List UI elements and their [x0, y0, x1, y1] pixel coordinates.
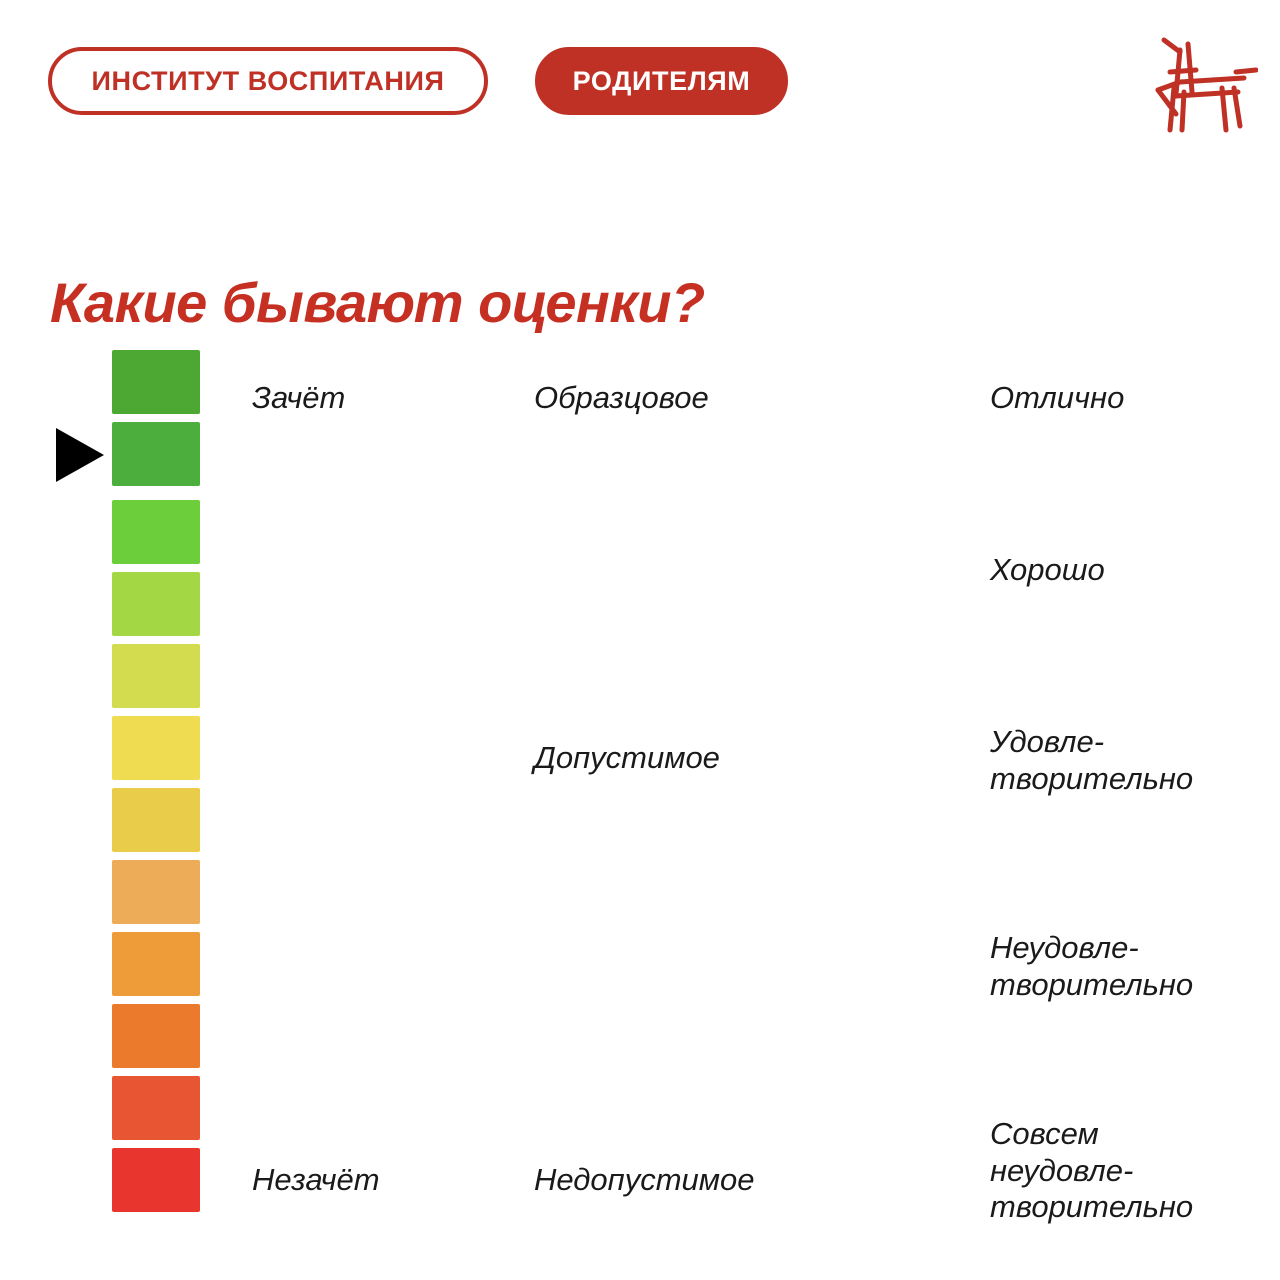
- label-grade-excellent: Отлично: [990, 380, 1124, 417]
- triangle-right-pointer-icon: [56, 428, 104, 482]
- scale-swatch: [112, 788, 200, 852]
- scale-swatch: [112, 350, 200, 414]
- horse-logo-icon[interactable]: [1140, 22, 1258, 134]
- scale-swatch: [112, 860, 200, 924]
- label-grade-good: Хорошо: [990, 552, 1105, 589]
- header: ИНСТИТУТ ВОСПИТАНИЯ РОДИТЕЛЯМ: [0, 0, 1280, 150]
- page-title: Какие бывают оценки?: [50, 270, 705, 335]
- scale-swatch: [112, 1076, 200, 1140]
- label-grade-unsatisfactory: Неудовле- творительно: [990, 930, 1193, 1003]
- scale-swatch: [112, 1148, 200, 1212]
- scale-swatch: [112, 500, 200, 564]
- scale-swatch: [112, 422, 200, 486]
- label-behaviour-acceptable: Допустимое: [534, 740, 720, 777]
- label-grade-satisfactory: Удовле- творительно: [990, 724, 1193, 797]
- scale-swatch: [112, 644, 200, 708]
- audience-badge[interactable]: РОДИТЕЛЯМ: [535, 47, 788, 115]
- scale-swatch: [112, 1004, 200, 1068]
- label-fail: Незачёт: [252, 1162, 380, 1199]
- scale-swatch: [112, 932, 200, 996]
- grade-scale: Зачёт Незачёт Образцовое Допустимое Недо…: [0, 350, 1280, 1202]
- label-pass: Зачёт: [252, 380, 345, 417]
- label-behaviour-exemplary: Образцовое: [534, 380, 709, 417]
- label-behaviour-unacceptable: Недопустимое: [534, 1162, 755, 1199]
- org-badge[interactable]: ИНСТИТУТ ВОСПИТАНИЯ: [48, 47, 488, 115]
- color-scale-column: [112, 350, 200, 1202]
- scale-swatch: [112, 572, 200, 636]
- label-grade-very-unsatisfactory: Совсем неудовле- творительно: [990, 1116, 1193, 1226]
- scale-swatch: [112, 716, 200, 780]
